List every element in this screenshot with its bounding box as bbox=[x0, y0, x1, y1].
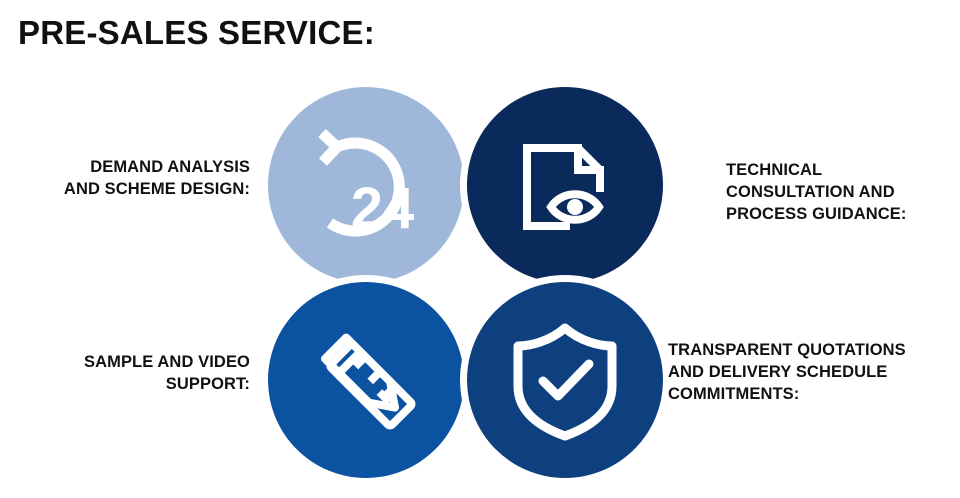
label-technical-consultation: TECHNICAL CONSULTATION AND PROCESS GUIDA… bbox=[726, 160, 958, 226]
label-transparent-quotations-line-2: AND DELIVERY SCHEDULE bbox=[668, 362, 960, 384]
circle-transparent-quotations-fill bbox=[467, 282, 663, 478]
circle-transparent-quotations[interactable] bbox=[467, 282, 663, 478]
label-technical-consultation-line-1: TECHNICAL bbox=[726, 160, 958, 182]
document-eye-icon-pupil bbox=[567, 199, 583, 215]
label-transparent-quotations-line-3: COMMITMENTS: bbox=[668, 384, 960, 406]
label-sample-video-support-line-1: SAMPLE AND VIDEO bbox=[0, 352, 250, 374]
circle-technical-consultation[interactable] bbox=[467, 87, 663, 283]
rotate-24h-icon-text: 24 bbox=[351, 176, 414, 241]
label-demand-analysis-line-1: DEMAND ANALYSIS bbox=[0, 157, 250, 179]
circle-sample-video-support[interactable] bbox=[268, 282, 464, 478]
label-transparent-quotations-line-1: TRANSPARENT QUOTATIONS bbox=[668, 340, 960, 362]
label-sample-video-support: SAMPLE AND VIDEO SUPPORT: bbox=[0, 352, 250, 396]
label-sample-video-support-line-2: SUPPORT: bbox=[0, 374, 250, 396]
label-demand-analysis: DEMAND ANALYSIS AND SCHEME DESIGN: bbox=[0, 157, 250, 201]
label-demand-analysis-line-2: AND SCHEME DESIGN: bbox=[0, 179, 250, 201]
circle-technical-consultation-fill bbox=[467, 87, 663, 283]
infographic-canvas: PRE-SALES SERVICE: 24 bbox=[0, 0, 960, 498]
diagram-svg: 24 bbox=[0, 0, 960, 498]
circle-sample-video-support-fill bbox=[268, 282, 464, 478]
label-transparent-quotations: TRANSPARENT QUOTATIONS AND DELIVERY SCHE… bbox=[668, 340, 960, 406]
four-circle-diagram: 24 bbox=[0, 0, 960, 498]
label-technical-consultation-line-2: CONSULTATION AND bbox=[726, 182, 958, 204]
label-technical-consultation-line-3: PROCESS GUIDANCE: bbox=[726, 204, 958, 226]
circle-demand-analysis[interactable]: 24 bbox=[268, 87, 464, 283]
